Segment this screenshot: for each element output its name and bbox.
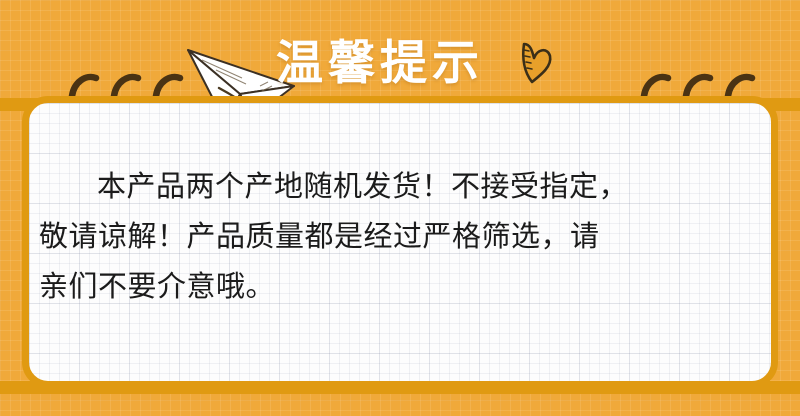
leaf-icon (512, 38, 560, 90)
note-text-block: 本产品两个产地随机发货！不接受指定， 敬请谅解！产品质量都是经过严格筛选，请 亲… (39, 161, 769, 311)
title-banner: 温馨提示 (0, 16, 800, 96)
note-line-2: 敬请谅解！产品质量都是经过严格筛选，请 (39, 211, 769, 261)
note-line-3: 亲们不要介意哦。 (39, 261, 769, 311)
bottom-accent-band (0, 381, 800, 394)
notice-poster: 温馨提示 (0, 0, 800, 416)
note-card: 本产品两个产地随机发货！不接受指定， 敬请谅解！产品质量都是经过严格筛选，请 亲… (22, 96, 778, 388)
page-title: 温馨提示 (276, 38, 484, 90)
note-line-1: 本产品两个产地随机发货！不接受指定， (39, 161, 769, 211)
